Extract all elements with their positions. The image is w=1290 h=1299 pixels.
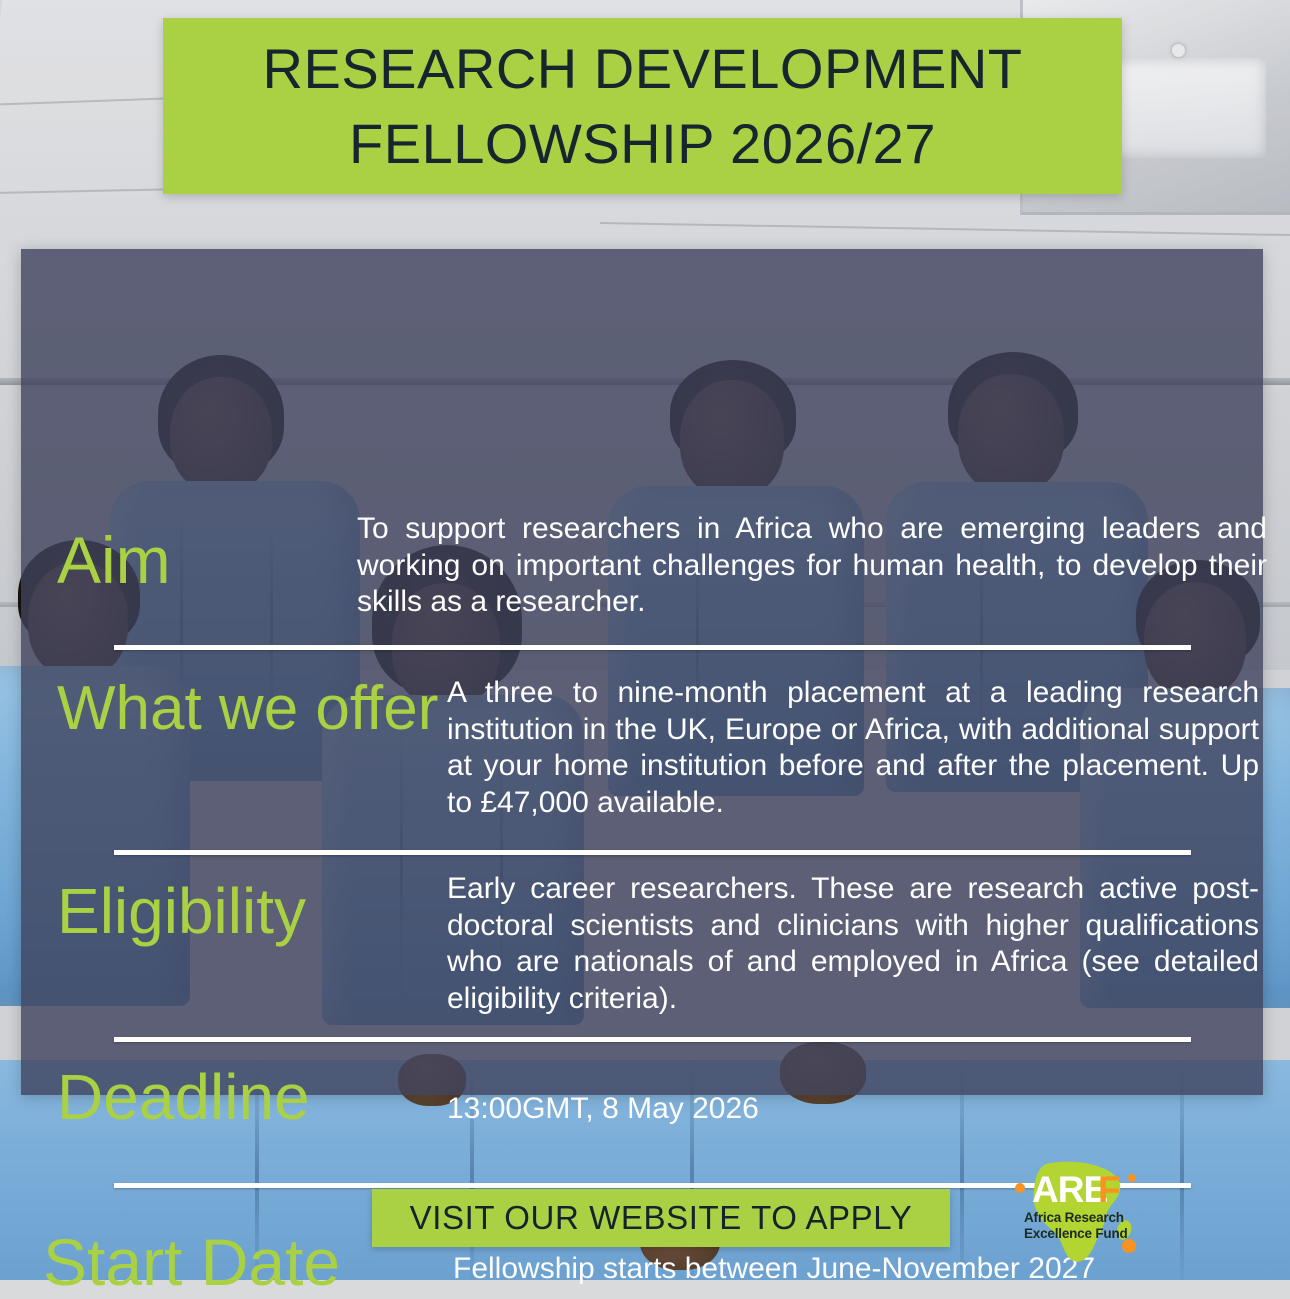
row-divider	[114, 1037, 1191, 1042]
title-line-2: FELLOWSHIP 2026/27	[349, 106, 936, 181]
row-value-aim: To support researchers in Africa who are…	[357, 511, 1267, 621]
row-label-eligibility: Eligibility	[57, 871, 447, 1017]
aref-name-line-1: Africa Research	[1024, 1210, 1124, 1225]
row-divider	[114, 645, 1191, 650]
aref-logo-graphic: ARE F Africa Research Excellence Fund	[1002, 1158, 1162, 1270]
info-row-aim: Aim To support researchers in Africa who…	[57, 511, 1267, 621]
aref-name-line-2: Excellence Fund	[1024, 1226, 1128, 1241]
row-value-eligibility: Early career researchers. These are rese…	[447, 871, 1259, 1017]
aref-acronym: ARE	[1032, 1169, 1107, 1210]
title-banner: RESEARCH DEVELOPMENT FELLOWSHIP 2026/27	[163, 18, 1122, 194]
aref-acronym-f: F	[1098, 1169, 1121, 1210]
info-row-deadline: Deadline 13:00GMT, 8 May 2026	[57, 1067, 1267, 1128]
title-line-1: RESEARCH DEVELOPMENT	[263, 31, 1023, 106]
row-value-deadline: 13:00GMT, 8 May 2026	[447, 1067, 1247, 1128]
fellowship-info-panel: Aim To support researchers in Africa who…	[21, 249, 1263, 1095]
row-value-what-we-offer: A three to nine-month placement at a lea…	[447, 675, 1259, 821]
row-label-what-we-offer: What we offer	[57, 675, 447, 821]
accent-dot-icon	[1015, 1183, 1025, 1193]
visit-website-button[interactable]: VISIT OUR WEBSITE TO APPLY	[372, 1189, 950, 1247]
visit-website-button-label: VISIT OUR WEBSITE TO APPLY	[410, 1199, 913, 1237]
row-label-deadline: Deadline	[57, 1067, 447, 1128]
accent-dot-icon	[1128, 1174, 1136, 1182]
info-row-what-we-offer: What we offer A three to nine-month plac…	[57, 675, 1267, 821]
aref-logo: ARE F Africa Research Excellence Fund	[1002, 1158, 1162, 1270]
row-divider	[114, 850, 1191, 855]
accent-dot-icon	[1122, 1239, 1136, 1253]
info-row-eligibility: Eligibility Early career researchers. Th…	[57, 871, 1267, 1017]
row-label-aim: Aim	[57, 511, 357, 621]
